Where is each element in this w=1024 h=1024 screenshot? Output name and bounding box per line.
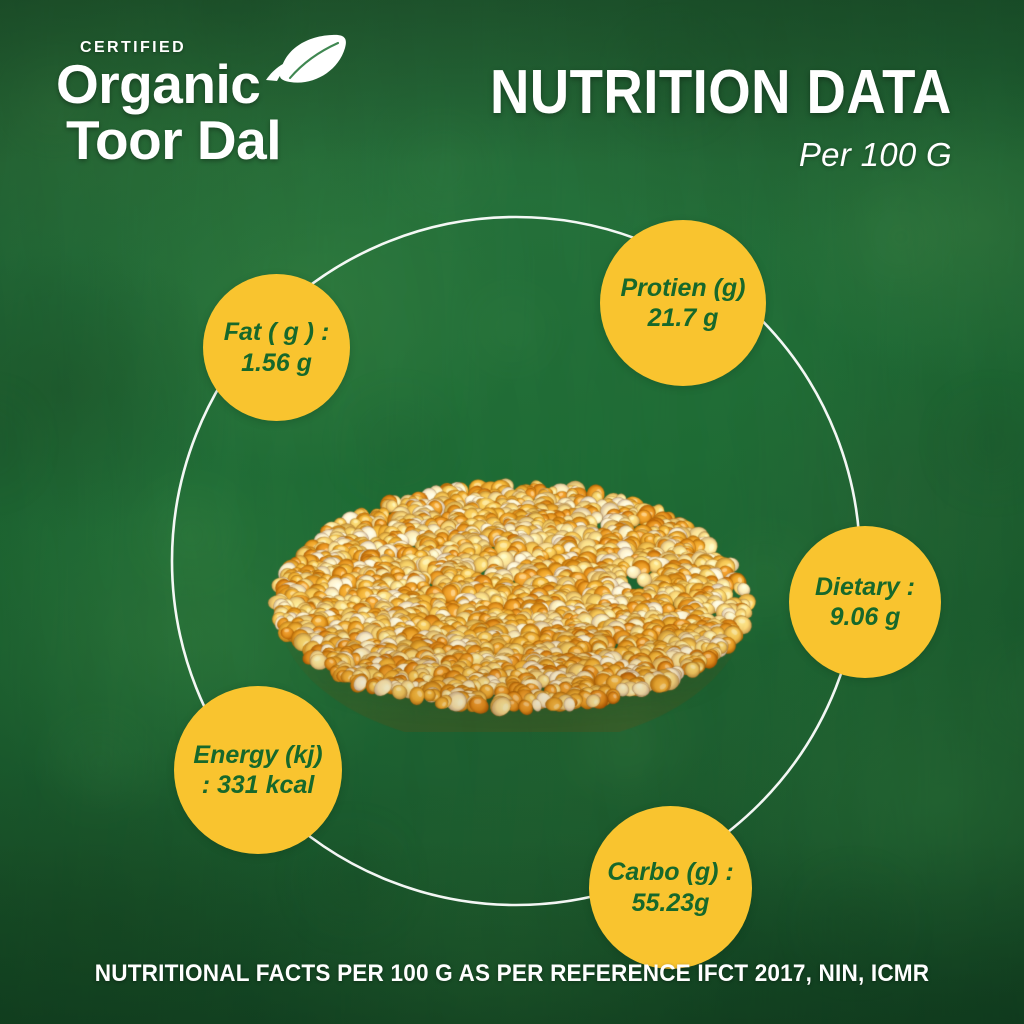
page-title: NUTRITION DATA: [490, 62, 952, 124]
nutrient-value-carbo: 55.23g: [632, 888, 710, 919]
nutrient-label-carbo: Carbo (g) :: [607, 857, 733, 888]
dal-mound: [262, 432, 762, 732]
nutrient-value-protein: 21.7 g: [648, 303, 719, 334]
nutrient-value-dietary: 9.06 g: [830, 602, 901, 633]
nutrient-bubble-fat[interactable]: Fat ( g ) : 1.56 g: [203, 274, 350, 421]
nutrient-label-energy: Energy (kj): [193, 740, 322, 771]
page-subtitle: Per 100 G: [427, 136, 952, 174]
footer-note: NUTRITIONAL FACTS PER 100 G AS PER REFER…: [31, 960, 994, 988]
nutrient-label-protein: Protien (g): [621, 273, 746, 304]
nutrient-bubble-dietary[interactable]: Dietary : 9.06 g: [789, 526, 941, 678]
nutrient-value-energy: : 331 kcal: [202, 770, 315, 801]
toor-dal-image: [262, 432, 762, 732]
nutrient-label-fat: Fat ( g ) :: [224, 317, 330, 348]
brand-name-line1: Organic: [56, 58, 386, 112]
nutrient-label-dietary: Dietary :: [815, 572, 915, 603]
brand-logo: CERTIFIED Organic Toor Dal: [56, 40, 386, 170]
brand-name-row: Organic Toor Dal: [56, 58, 386, 170]
nutrient-bubble-energy[interactable]: Energy (kj) : 331 kcal: [174, 686, 342, 854]
nutrient-bubble-protein[interactable]: Protien (g) 21.7 g: [600, 220, 766, 386]
nutrient-value-fat: 1.56 g: [241, 348, 312, 379]
nutrition-infographic: CERTIFIED Organic Toor Dal NUTRITION DAT…: [0, 0, 1024, 1024]
page-title-block: NUTRITION DATA Per 100 G: [427, 62, 952, 174]
nutrient-bubble-carbo[interactable]: Carbo (g) : 55.23g: [589, 806, 752, 969]
brand-name-line2: Toor Dal: [66, 112, 386, 170]
